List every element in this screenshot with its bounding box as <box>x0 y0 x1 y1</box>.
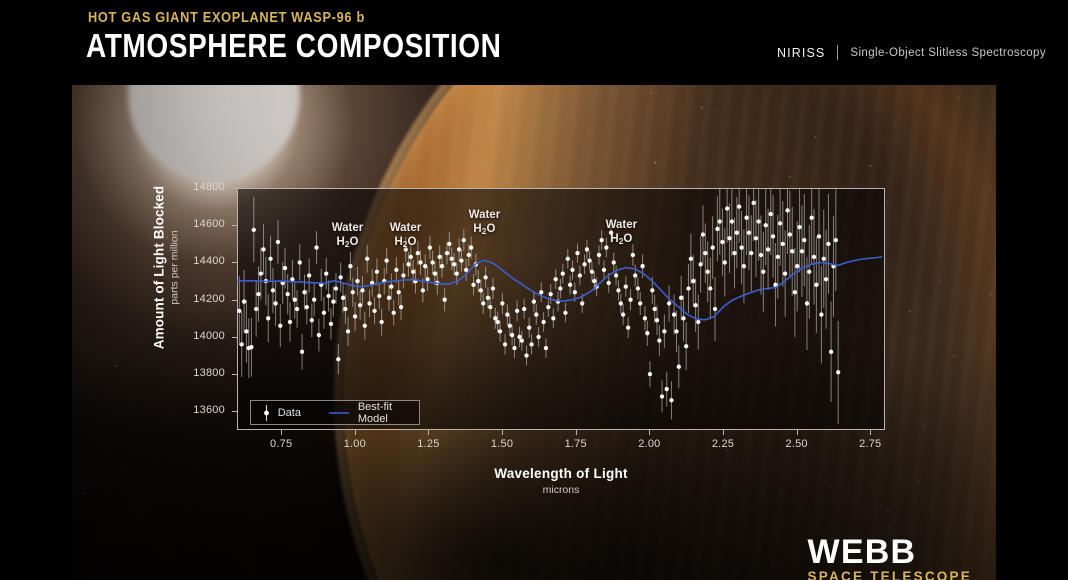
data-point <box>430 260 434 264</box>
x-axis-label: Wavelength of Light microns <box>237 466 885 496</box>
data-point <box>693 303 697 307</box>
data-point <box>783 271 787 275</box>
data-point <box>653 307 657 311</box>
data-point <box>590 270 594 274</box>
annotation-label: Water <box>606 219 638 231</box>
data-point <box>418 260 422 264</box>
data-point <box>612 260 616 264</box>
data-point <box>483 275 487 279</box>
data-point <box>397 290 401 294</box>
data-point <box>739 245 743 249</box>
x-tick-mark <box>355 430 356 435</box>
instrument-mode: Single-Object Slitless Spectroscopy <box>850 47 1046 59</box>
data-point <box>771 234 775 238</box>
data-point <box>459 258 463 262</box>
x-tick-label: 1.50 <box>477 438 527 450</box>
x-tick-label: 1.00 <box>330 438 380 450</box>
data-point <box>766 247 770 251</box>
data-point <box>271 288 275 292</box>
data-point <box>602 268 606 272</box>
x-tick-label: 2.25 <box>698 438 748 450</box>
data-point <box>367 301 371 305</box>
data-point <box>539 290 543 294</box>
data-point <box>544 346 548 350</box>
x-tick-mark <box>502 430 503 435</box>
data-point <box>500 301 504 305</box>
data-point <box>638 301 642 305</box>
data-point <box>411 270 415 274</box>
data-point <box>674 329 678 333</box>
data-point <box>672 312 676 316</box>
data-point <box>360 288 364 292</box>
data-point <box>558 286 562 290</box>
data-point <box>322 311 326 315</box>
data-point <box>723 260 727 264</box>
y-tick-mark <box>232 337 237 338</box>
instrument-credit: NIRISS Single-Object Slitless Spectrosco… <box>777 45 1046 60</box>
data-point <box>256 292 260 296</box>
data-point <box>503 342 507 346</box>
data-point <box>793 290 797 294</box>
data-point <box>399 305 403 309</box>
data-point <box>720 240 724 244</box>
data-point <box>689 257 693 261</box>
chart-legend: Data Best-fit Model <box>250 400 420 425</box>
legend-label-data: Data <box>278 407 301 419</box>
data-point <box>795 264 799 268</box>
water-annotation: WaterH2O <box>365 221 445 249</box>
data-point <box>759 253 763 257</box>
data-point <box>433 271 437 275</box>
data-point <box>334 286 338 290</box>
annotation-formula: H2O <box>336 236 358 248</box>
data-point <box>266 316 270 320</box>
data-point <box>242 299 246 303</box>
y-tick-label: 14000 <box>171 330 225 342</box>
data-point <box>747 231 751 235</box>
y-tick-label: 13800 <box>171 367 225 379</box>
data-point <box>698 262 702 266</box>
annotation-label: Water <box>469 209 501 221</box>
data-point <box>645 331 649 335</box>
x-tick-mark <box>576 430 577 435</box>
data-point <box>353 314 357 318</box>
data-point <box>254 307 258 311</box>
data-point <box>718 219 722 223</box>
data-point <box>802 238 806 242</box>
annotation-label: Water <box>390 222 422 234</box>
data-point <box>343 307 347 311</box>
x-tick-mark <box>281 430 282 435</box>
y-tick-label: 13600 <box>171 404 225 416</box>
legend-label-model: Best-fit Model <box>358 401 408 425</box>
data-point <box>300 350 304 354</box>
data-point <box>286 292 290 296</box>
data-point <box>409 255 413 259</box>
data-point <box>681 316 685 320</box>
data-point <box>764 223 768 227</box>
data-point <box>751 201 755 205</box>
data-point <box>546 305 550 309</box>
webb-logo: WEBB SPACE TELESCOPE <box>808 536 972 580</box>
webb-wordmark: WEBB <box>808 536 972 569</box>
legend-marker-model <box>329 409 348 417</box>
data-point <box>679 296 683 300</box>
y-tick-label: 14800 <box>171 181 225 193</box>
data-point <box>711 245 715 249</box>
data-point <box>636 286 640 290</box>
data-point <box>351 290 355 294</box>
data-point <box>684 344 688 348</box>
data-point <box>363 324 367 328</box>
data-point <box>614 273 618 277</box>
x-tick-mark <box>649 430 650 435</box>
x-tick-label: 2.00 <box>624 438 674 450</box>
data-point <box>346 329 350 333</box>
data-point <box>561 271 565 275</box>
data-point <box>244 329 248 333</box>
data-point <box>326 294 330 298</box>
annotation-formula: H2O <box>610 233 632 245</box>
data-point <box>394 268 398 272</box>
page-title: ATMOSPHERE COMPOSITION <box>86 27 501 65</box>
data-point <box>812 255 816 259</box>
data-point <box>389 285 393 289</box>
data-point <box>416 251 420 255</box>
water-annotation: WaterH2O <box>581 218 661 246</box>
data-point <box>725 206 729 210</box>
x-tick-label: 2.50 <box>772 438 822 450</box>
data-point <box>445 251 449 255</box>
data-point <box>462 238 466 242</box>
data-point <box>471 283 475 287</box>
data-point <box>496 320 500 324</box>
data-point <box>336 357 340 361</box>
data-point <box>392 311 396 315</box>
legend-marker-data <box>262 404 269 422</box>
data-point <box>691 279 695 283</box>
data-point <box>665 387 669 391</box>
data-point <box>563 311 567 315</box>
data-point <box>626 325 630 329</box>
data-point <box>268 257 272 261</box>
data-point <box>259 271 263 275</box>
y-tick-label: 14600 <box>171 218 225 230</box>
data-point <box>479 288 483 292</box>
data-point <box>377 294 381 298</box>
data-point <box>443 298 447 302</box>
data-point <box>769 212 773 216</box>
data-point <box>317 333 321 337</box>
x-tick-mark <box>723 430 724 435</box>
x-tick-mark <box>870 430 871 435</box>
data-point <box>450 257 454 261</box>
data-point <box>406 262 410 266</box>
data-point <box>640 264 644 268</box>
data-point <box>261 247 265 251</box>
data-point <box>819 312 823 316</box>
data-point <box>570 268 574 272</box>
data-point <box>510 333 514 337</box>
x-axis-units: microns <box>237 484 885 496</box>
data-point <box>631 253 635 257</box>
data-point <box>512 346 516 350</box>
data-point <box>375 270 379 274</box>
data-point <box>800 249 804 253</box>
data-point <box>541 320 545 324</box>
data-point <box>686 286 690 290</box>
data-point <box>387 296 391 300</box>
data-point <box>379 320 383 324</box>
data-point <box>628 298 632 302</box>
data-point <box>298 260 302 264</box>
data-point <box>660 394 664 398</box>
data-point <box>730 219 734 223</box>
data-point <box>522 307 526 311</box>
data-point <box>488 305 492 309</box>
data-point <box>790 249 794 253</box>
data-point <box>814 283 818 287</box>
data-point <box>834 238 838 242</box>
data-point <box>667 301 671 305</box>
data-point <box>587 258 591 262</box>
data-point <box>585 247 589 251</box>
data-point <box>307 273 311 277</box>
data-point <box>534 312 538 316</box>
y-tick-label: 14400 <box>171 255 225 267</box>
data-point <box>312 298 316 302</box>
data-point <box>744 216 748 220</box>
data-point <box>549 292 553 296</box>
data-point <box>778 221 782 225</box>
illustration-panel: Amount of Light Blocked parts per millio… <box>72 85 996 580</box>
x-axis-title: Wavelength of Light <box>237 466 885 481</box>
data-point <box>520 339 524 343</box>
data-point <box>529 342 533 346</box>
data-point <box>810 216 814 220</box>
data-point <box>607 281 611 285</box>
data-point <box>749 251 753 255</box>
annotation-formula: H2O <box>473 223 495 235</box>
data-point <box>249 345 253 349</box>
x-tick-label: 2.75 <box>845 438 895 450</box>
data-point <box>464 268 468 272</box>
data-point <box>455 271 459 275</box>
data-point <box>713 307 717 311</box>
data-point <box>580 301 584 305</box>
data-point <box>578 273 582 277</box>
data-point <box>293 298 297 302</box>
data-point <box>781 242 785 246</box>
data-point <box>252 228 256 232</box>
y-tick-mark <box>232 411 237 412</box>
y-tick-label: 14200 <box>171 293 225 305</box>
data-point <box>657 339 661 343</box>
data-point <box>737 204 741 208</box>
data-point <box>290 277 294 281</box>
data-point <box>677 365 681 369</box>
data-point <box>384 258 388 262</box>
data-point <box>467 253 471 257</box>
data-point <box>797 225 801 229</box>
data-point <box>566 257 570 261</box>
data-point <box>597 253 601 257</box>
data-point <box>329 322 333 326</box>
data-point <box>276 240 280 244</box>
data-point <box>643 316 647 320</box>
data-point <box>624 285 628 289</box>
data-point <box>476 279 480 283</box>
data-point <box>358 303 362 307</box>
data-point <box>283 266 287 270</box>
data-point <box>425 277 429 281</box>
data-point <box>457 247 461 251</box>
data-point <box>339 275 343 279</box>
data-point <box>788 232 792 236</box>
data-point <box>754 236 758 240</box>
data-point <box>288 320 292 324</box>
data-point <box>742 264 746 268</box>
x-tick-label: 1.25 <box>403 438 453 450</box>
data-point <box>708 286 712 290</box>
data-point <box>273 301 277 305</box>
data-point <box>331 299 335 303</box>
data-point <box>505 312 509 316</box>
subject-eyebrow: HOT GAS GIANT EXOPLANET WASP-96 b <box>88 10 365 26</box>
data-point <box>355 279 359 283</box>
y-tick-mark <box>232 225 237 226</box>
data-point <box>735 231 739 235</box>
x-tick-mark <box>797 430 798 435</box>
data-point <box>401 273 405 277</box>
instrument-name: NIRISS <box>777 46 825 60</box>
data-point <box>324 271 328 275</box>
annotation-label: Water <box>332 222 364 234</box>
data-point <box>421 288 425 292</box>
data-point <box>524 353 528 357</box>
data-point <box>824 277 828 281</box>
data-point <box>348 264 352 268</box>
data-point <box>648 372 652 376</box>
data-point <box>619 301 623 305</box>
data-point <box>761 270 765 274</box>
data-point <box>240 342 244 346</box>
data-point <box>706 270 710 274</box>
x-tick-mark <box>428 430 429 435</box>
data-point <box>817 234 821 238</box>
space-telescope-wordmark: SPACE TELESCOPE <box>808 570 972 580</box>
data-point <box>536 335 540 339</box>
data-point <box>836 370 840 374</box>
divider <box>837 45 838 60</box>
data-point <box>756 219 760 223</box>
data-point <box>532 299 536 303</box>
data-point <box>341 296 345 300</box>
y-tick-mark <box>232 300 237 301</box>
data-point <box>551 316 555 320</box>
data-point <box>491 286 495 290</box>
data-point <box>669 398 673 402</box>
data-point <box>732 251 736 255</box>
data-point <box>515 309 519 313</box>
data-point <box>469 245 473 249</box>
data-point <box>423 264 427 268</box>
spectrum-plot: Amount of Light Blocked parts per millio… <box>72 85 996 580</box>
data-point <box>573 290 577 294</box>
data-point <box>498 329 502 333</box>
data-point <box>662 329 666 333</box>
data-point <box>568 283 572 287</box>
y-axis-title: Amount of Light Blocked <box>152 168 167 368</box>
x-tick-label: 0.75 <box>256 438 306 450</box>
data-point <box>508 324 512 328</box>
data-point <box>633 273 637 277</box>
data-point <box>372 309 376 313</box>
data-point <box>278 324 282 328</box>
header-bar: HOT GAS GIANT EXOPLANET WASP-96 b ATMOSP… <box>0 0 1068 85</box>
data-point <box>703 251 707 255</box>
data-point <box>305 305 309 309</box>
annotation-formula: H2O <box>394 236 416 248</box>
y-tick-mark <box>232 374 237 375</box>
data-point <box>655 318 659 322</box>
data-point <box>826 242 830 246</box>
data-point <box>715 227 719 231</box>
data-point <box>701 232 705 236</box>
data-point <box>727 236 731 240</box>
data-point <box>805 301 809 305</box>
data-point <box>616 288 620 292</box>
data-point <box>365 257 369 261</box>
data-point <box>822 257 826 261</box>
data-point <box>696 320 700 324</box>
data-point <box>527 325 531 329</box>
data-point <box>438 255 442 259</box>
data-point <box>582 262 586 266</box>
data-point <box>481 301 485 305</box>
data-point <box>554 277 558 281</box>
x-tick-label: 1.75 <box>551 438 601 450</box>
data-point <box>592 279 596 283</box>
data-point <box>517 335 521 339</box>
y-tick-mark <box>232 188 237 189</box>
water-annotation: WaterH2O <box>444 208 524 236</box>
data-point <box>785 208 789 212</box>
data-point <box>621 312 625 316</box>
data-point <box>310 318 314 322</box>
data-point <box>650 288 654 292</box>
data-point <box>447 242 451 246</box>
data-point <box>295 307 299 311</box>
data-point <box>776 255 780 259</box>
data-point <box>493 316 497 320</box>
data-point <box>452 262 456 266</box>
data-point <box>237 309 241 313</box>
y-tick-mark <box>232 262 237 263</box>
data-point <box>486 296 490 300</box>
data-point <box>302 290 306 294</box>
data-point <box>575 251 579 255</box>
data-point <box>807 270 811 274</box>
data-point <box>440 264 444 268</box>
data-point <box>829 350 833 354</box>
